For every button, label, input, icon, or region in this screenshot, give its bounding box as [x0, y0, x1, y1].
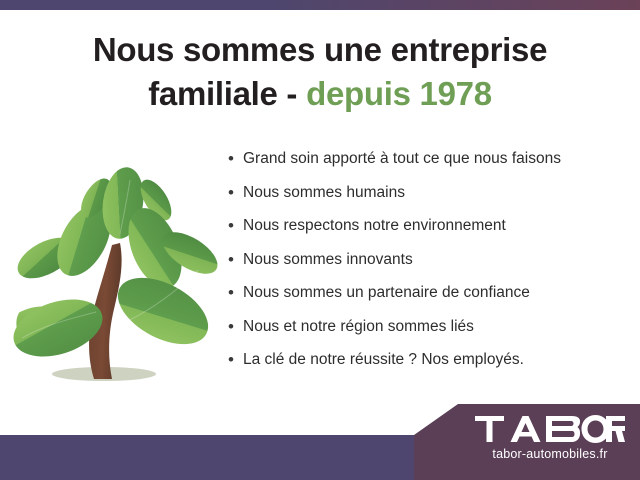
page-title: Nous sommes une entreprise familiale -de… [0, 28, 640, 115]
list-item: • Nous et notre région sommes liés [228, 316, 628, 337]
brand-wordmark-tabor [470, 414, 630, 444]
bullet-marker: • [228, 182, 243, 203]
list-item-label: Nous sommes un partenaire de confiance [243, 282, 628, 303]
bullet-marker: • [228, 282, 243, 303]
list-item: • Nous sommes innovants [228, 249, 628, 270]
top-accent-bar [0, 0, 640, 10]
headline-line-1: Nous sommes une entreprise [0, 28, 640, 72]
brand-logo[interactable]: tabor-automobiles.fr [470, 414, 630, 462]
list-item: • La clé de notre réussite ? Nos employé… [228, 349, 628, 370]
bullet-marker: • [228, 215, 243, 236]
list-item: • Grand soin apporté à tout ce que nous … [228, 148, 628, 169]
list-item-label: La clé de notre réussite ? Nos employés. [243, 349, 628, 370]
brand-url-label: tabor-automobiles.fr [470, 447, 630, 462]
list-item: • Nous respectons notre environnement [228, 215, 628, 236]
bullet-marker: • [228, 249, 243, 270]
list-item-label: Nous sommes humains [243, 182, 628, 203]
values-list: • Grand soin apporté à tout ce que nous … [228, 148, 628, 383]
headline-line-2: familiale -depuis 1978 [0, 72, 640, 116]
list-item: • Nous sommes un partenaire de confiance [228, 282, 628, 303]
bullet-marker: • [228, 316, 243, 337]
slide-canvas: Nous sommes une entreprise familiale -de… [0, 0, 640, 480]
bullet-marker: • [228, 349, 243, 370]
list-item-label: Nous sommes innovants [243, 249, 628, 270]
list-item-label: Nous et notre région sommes liés [243, 316, 628, 337]
list-item-label: Grand soin apporté à tout ce que nous fa… [243, 148, 628, 169]
headline-line-2-main: familiale - [148, 75, 297, 112]
tree-illustration [8, 148, 223, 393]
list-item-label: Nous respectons notre environnement [243, 215, 628, 236]
list-item: • Nous sommes humains [228, 182, 628, 203]
bullet-marker: • [228, 148, 243, 169]
headline-accent: depuis 1978 [306, 75, 492, 112]
